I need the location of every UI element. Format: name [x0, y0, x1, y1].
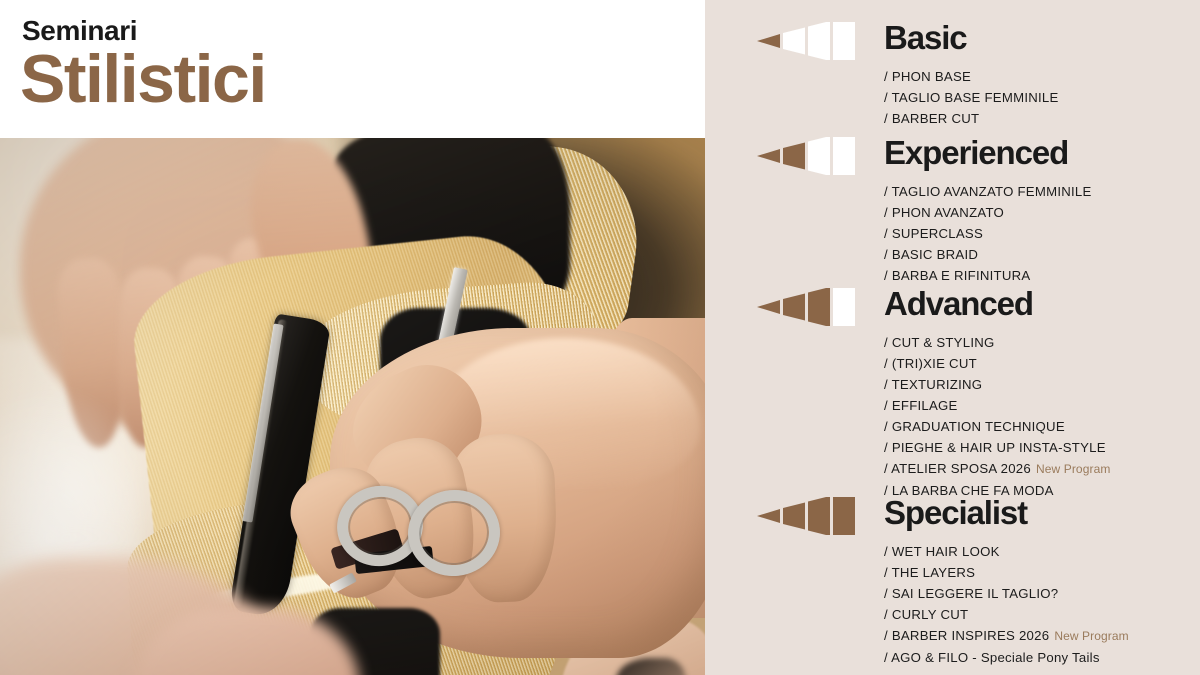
bullet-prefix: / [884, 377, 888, 392]
list-item[interactable]: / SUPERCLASS [884, 223, 1092, 244]
course-name: EFFILAGE [892, 398, 958, 413]
course-name: TAGLIO AVANZATO FEMMINILE [892, 184, 1092, 199]
bullet-prefix: / [884, 205, 888, 220]
course-name: CUT & STYLING [892, 335, 995, 350]
bullet-prefix: / [884, 356, 888, 371]
level-arrow-icon [757, 22, 857, 60]
bullet-prefix: / [884, 69, 888, 84]
new-program-badge: New Program [1054, 629, 1128, 643]
bullet-prefix: / [884, 247, 888, 262]
bullet-prefix: / [884, 184, 888, 199]
section-heading: Specialist [884, 492, 1027, 534]
course-name: WET HAIR LOOK [892, 544, 1000, 559]
section-heading: Experienced [884, 132, 1068, 174]
course-name: ATELIER SPOSA 2026 [891, 461, 1031, 476]
page-title: Stilistici [20, 40, 266, 118]
bullet-prefix: / [884, 565, 888, 580]
course-list: / TAGLIO AVANZATO FEMMINILE / PHON AVANZ… [884, 181, 1092, 286]
level-arrow-icon [757, 137, 857, 175]
hair-salon-photo [0, 138, 705, 675]
bullet-prefix: / [884, 650, 888, 665]
list-item[interactable]: / PHON BASE [884, 66, 1059, 87]
level-arrow-icon [757, 497, 857, 535]
list-item[interactable]: / ATELIER SPOSA 2026New Program [884, 458, 1110, 480]
bullet-prefix: / [884, 544, 888, 559]
course-name: CURLY CUT [892, 607, 969, 622]
course-name: SAI LEGGERE IL TAGLIO? [892, 586, 1059, 601]
new-program-badge: New Program [1036, 462, 1110, 476]
course-name: BASIC BRAID [892, 247, 978, 262]
slide-root: Seminari Stilistici Basic / PHON BASE / … [0, 0, 1200, 675]
section-heading: Basic [884, 17, 967, 59]
list-item[interactable]: / AGO & FILO - Speciale Pony Tails [884, 647, 1129, 668]
bullet-prefix: / [884, 628, 888, 643]
list-item[interactable]: / BASIC BRAID [884, 244, 1092, 265]
list-item[interactable]: / PIEGHE & HAIR UP INSTA-STYLE [884, 437, 1110, 458]
bullet-prefix: / [884, 607, 888, 622]
list-item[interactable]: / EFFILAGE [884, 395, 1110, 416]
bullet-prefix: / [884, 90, 888, 105]
list-item[interactable]: / THE LAYERS [884, 562, 1129, 583]
list-item[interactable]: / TEXTURIZING [884, 374, 1110, 395]
course-name: TAGLIO BASE FEMMINILE [892, 90, 1059, 105]
list-item[interactable]: / GRADUATION TECHNIQUE [884, 416, 1110, 437]
list-item[interactable]: / CURLY CUT [884, 604, 1129, 625]
list-item[interactable]: / BARBER CUT [884, 108, 1059, 129]
course-name: GRADUATION TECHNIQUE [892, 419, 1065, 434]
section-heading: Advanced [884, 283, 1033, 325]
course-name: BARBA E RIFINITURA [892, 268, 1031, 283]
bullet-prefix: / [884, 440, 888, 455]
left-column: Seminari Stilistici [0, 0, 705, 675]
course-name: BARBER INSPIRES 2026 [892, 628, 1049, 643]
course-name: PIEGHE & HAIR UP INSTA-STYLE [892, 440, 1106, 455]
list-item[interactable]: / WET HAIR LOOK [884, 541, 1129, 562]
bullet-prefix: / [884, 398, 888, 413]
course-name: TEXTURIZING [892, 377, 983, 392]
bullet-prefix: / [884, 461, 888, 476]
list-item[interactable]: / BARBER INSPIRES 2026New Program [884, 625, 1129, 647]
course-name: PHON AVANZATO [892, 205, 1004, 220]
bullet-prefix: / [884, 268, 888, 283]
course-levels-panel: Basic / PHON BASE / TAGLIO BASE FEMMINIL… [705, 0, 1200, 675]
title-block: Seminari Stilistici [0, 0, 705, 138]
bullet-prefix: / [884, 335, 888, 350]
course-name: AGO & FILO - Speciale Pony Tails [891, 650, 1100, 665]
level-arrow-icon [757, 288, 857, 326]
bullet-prefix: / [884, 111, 888, 126]
course-name: (TRI)XIE CUT [892, 356, 977, 371]
bullet-prefix: / [884, 586, 888, 601]
list-item[interactable]: / PHON AVANZATO [884, 202, 1092, 223]
course-name: SUPERCLASS [892, 226, 983, 241]
bullet-prefix: / [884, 226, 888, 241]
course-name: THE LAYERS [892, 565, 976, 580]
course-name: BARBER CUT [892, 111, 980, 126]
course-name: PHON BASE [892, 69, 971, 84]
bullet-prefix: / [884, 419, 888, 434]
list-item[interactable]: / TAGLIO BASE FEMMINILE [884, 87, 1059, 108]
course-list: / WET HAIR LOOK / THE LAYERS / SAI LEGGE… [884, 541, 1129, 668]
list-item[interactable]: / SAI LEGGERE IL TAGLIO? [884, 583, 1129, 604]
course-list: / PHON BASE / TAGLIO BASE FEMMINILE / BA… [884, 66, 1059, 129]
course-list: / CUT & STYLING / (TRI)XIE CUT / TEXTURI… [884, 332, 1110, 501]
list-item[interactable]: / (TRI)XIE CUT [884, 353, 1110, 374]
list-item[interactable]: / CUT & STYLING [884, 332, 1110, 353]
list-item[interactable]: / TAGLIO AVANZATO FEMMINILE [884, 181, 1092, 202]
